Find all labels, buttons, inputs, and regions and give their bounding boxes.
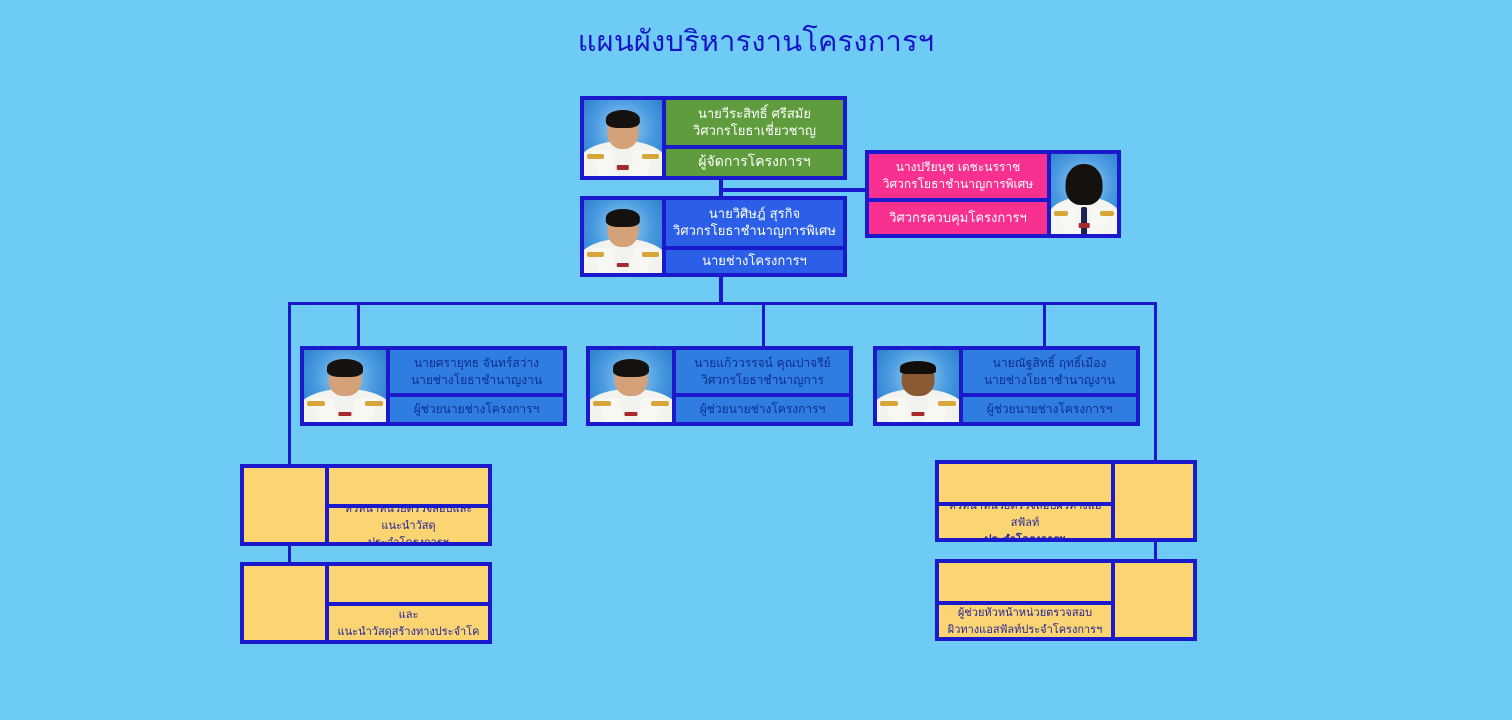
node-material-chief[interactable]: หัวหน้าหน่วยตรวจสอบและแนะนำวัสดุ ประจำโค… <box>240 464 492 546</box>
page-title: แผนผังบริหารงานโครงการฯ <box>0 22 1512 60</box>
node-asphalt-assistant[interactable]: ผู้ช่วยหัวหน้าหน่วยตรวจสอบ ผิวทางแอสฟัลท… <box>935 559 1197 641</box>
chief-technician-position-cell: นายช่างโครงการฯ <box>664 248 845 275</box>
node-project-manager[interactable]: นายวีระสิทธิ์ ศรีสมัย วิศวกรโยธาเชี่ยวชา… <box>580 96 847 180</box>
material-assistant-position-line1: ผู้ช่วยหัวหน้าหน่วยตรวจสอบและ <box>333 604 484 623</box>
node-asphalt-chief[interactable]: หัวหน้าหน่วยตรวจสอบผิวทางแอสฟัลท์ ประจำโ… <box>935 460 1197 542</box>
assistant-1-position: ผู้ช่วยนายช่างโครงการฯ <box>390 401 563 418</box>
assistant-2-position: ผู้ช่วยนายช่างโครงการฯ <box>676 401 849 418</box>
assistant-2-name: นายแก้ววรรจน์ คุณปาจรีย์ <box>680 355 845 372</box>
assistant-1-name: นายศรายุทธ จันทร์สว่าง <box>394 355 559 372</box>
assistant-3-position: ผู้ช่วยนายช่างโครงการฯ <box>963 401 1136 418</box>
assistant-3-rank: นายช่างโยธาชำนาญงาน <box>967 372 1132 389</box>
connector-bus-to-assistant-2 <box>762 302 765 346</box>
control-engineer-position-cell: วิศวกรควบคุมโครงการฯ <box>867 200 1049 236</box>
project-manager-position: ผู้จัดการโครงการฯ <box>666 154 843 171</box>
avatar-project-chief-technician <box>582 198 664 275</box>
asphalt-assistant-name-cell <box>937 561 1113 603</box>
avatar-assistant-2 <box>588 348 674 424</box>
assistant-1-rank: นายช่างโยธาชำนาญงาน <box>394 372 559 389</box>
control-engineer-name: นางปรียนุช เดชะนรราช <box>873 159 1043 176</box>
avatar-material-chief-placeholder <box>242 466 327 544</box>
asphalt-chief-position-line1: หัวหน้าหน่วยตรวจสอบผิวทางแอสฟัลท์ <box>943 504 1107 531</box>
assistant-3-name: นายณัฐสิทธิ์ ฤทธิ์เมือง <box>967 355 1132 372</box>
node-control-engineer[interactable]: นางปรียนุช เดชะนรราช วิศวกรโยธาชำนาญการพ… <box>865 150 1121 238</box>
chief-technician-name: นายวิศิษฎ์ สุรกิจ <box>670 206 839 223</box>
material-assistant-position-cell: ผู้ช่วยหัวหน้าหน่วยตรวจสอบและ แนะนำวัสดุ… <box>327 604 490 642</box>
connector-chief-to-bus-vertical <box>719 277 723 305</box>
assistant-2-name-cell: นายแก้ววรรจน์ คุณปาจรีย์ วิศวกรโยธาชำนาญ… <box>674 348 851 395</box>
assistant-1-name-cell: นายศรายุทธ จันทร์สว่าง นายช่างโยธาชำนาญง… <box>388 348 565 395</box>
chief-technician-rank: วิศวกรโยธาชำนาญการพิเศษ <box>670 223 839 240</box>
asphalt-assistant-position-cell: ผู้ช่วยหัวหน้าหน่วยตรวจสอบ ผิวทางแอสฟัลท… <box>937 603 1113 639</box>
material-assistant-name-cell <box>327 564 490 604</box>
project-manager-position-cell: ผู้จัดการโครงการฯ <box>664 147 845 178</box>
project-manager-rank: วิศวกรโยธาเชี่ยวชาญ <box>670 123 839 140</box>
material-chief-position-cell: หัวหน้าหน่วยตรวจสอบและแนะนำวัสดุ ประจำโค… <box>327 506 490 544</box>
chief-technician-position: นายช่างโครงการฯ <box>666 253 843 270</box>
avatar-control-engineer <box>1049 152 1119 236</box>
connector-bus-to-assistant-1 <box>357 302 360 346</box>
node-assistant-3[interactable]: นายณัฐสิทธิ์ ฤทธิ์เมือง นายช่างโยธาชำนาญ… <box>873 346 1140 426</box>
node-material-assistant[interactable]: ผู้ช่วยหัวหน้าหน่วยตรวจสอบและ แนะนำวัสดุ… <box>240 562 492 644</box>
avatar-assistant-3 <box>875 348 961 424</box>
asphalt-assistant-position-line2: ผิวทางแอสฟัลท์ประจำโครงการฯ <box>943 621 1107 638</box>
control-engineer-rank: วิศวกรโยธาชำนาญการพิเศษ <box>873 176 1043 193</box>
material-chief-position-line1: หัวหน้าหน่วยตรวจสอบและแนะนำวัสดุ <box>333 506 484 534</box>
control-engineer-name-cell: นางปรียนุช เดชะนรราช วิศวกรโยธาชำนาญการพ… <box>867 152 1049 200</box>
avatar-project-manager <box>582 98 664 178</box>
chief-technician-name-cell: นายวิศิษฎ์ สุรกิจ วิศวกรโยธาชำนาญการพิเศ… <box>664 198 845 248</box>
assistant-3-name-cell: นายณัฐสิทธิ์ ฤทธิ์เมือง นายช่างโยธาชำนาญ… <box>961 348 1138 395</box>
material-chief-name-cell <box>327 466 490 506</box>
control-engineer-position: วิศวกรควบคุมโครงการฯ <box>869 210 1047 227</box>
avatar-assistant-1 <box>302 348 388 424</box>
assistant-1-position-cell: ผู้ช่วยนายช่างโครงการฯ <box>388 395 565 424</box>
connector-pm-to-control-engineer-horizontal <box>719 188 867 192</box>
project-manager-name-cell: นายวีระสิทธิ์ ศรีสมัย วิศวกรโยธาเชี่ยวชา… <box>664 98 845 147</box>
node-assistant-1[interactable]: นายศรายุทธ จันทร์สว่าง นายช่างโยธาชำนาญง… <box>300 346 567 426</box>
asphalt-chief-position-line2: ประจำโครงการฯ <box>943 531 1107 541</box>
asphalt-assistant-position-line1: ผู้ช่วยหัวหน้าหน่วยตรวจสอบ <box>943 604 1107 621</box>
material-chief-position-line2: ประจำโครงการฯ <box>333 534 484 545</box>
avatar-asphalt-assistant-placeholder <box>1113 561 1195 639</box>
material-assistant-position-line2: แนะนำวัสดุสร้างทางประจำโครงการฯ <box>333 623 484 642</box>
assistant-3-position-cell: ผู้ช่วยนายช่างโครงการฯ <box>961 395 1138 424</box>
project-manager-name: นายวีระสิทธิ์ ศรีสมัย <box>670 106 839 123</box>
assistant-2-rank: วิศวกรโยธาชำนาญการ <box>680 372 845 389</box>
connector-main-bus-horizontal <box>288 302 1157 305</box>
avatar-asphalt-chief-placeholder <box>1113 462 1195 540</box>
connector-bus-to-assistant-3 <box>1043 302 1046 346</box>
asphalt-chief-position-cell: หัวหน้าหน่วยตรวจสอบผิวทางแอสฟัลท์ ประจำโ… <box>937 504 1113 540</box>
org-chart-canvas: แผนผังบริหารงานโครงการฯ นายวีระสิทธิ์ ศร… <box>0 0 1512 720</box>
connector-right-spine-vertical <box>1154 302 1157 460</box>
asphalt-chief-name-cell <box>937 462 1113 504</box>
node-assistant-2[interactable]: นายแก้ววรรจน์ คุณปาจรีย์ วิศวกรโยธาชำนาญ… <box>586 346 853 426</box>
avatar-material-assistant-placeholder <box>242 564 327 642</box>
node-project-chief-technician[interactable]: นายวิศิษฎ์ สุรกิจ วิศวกรโยธาชำนาญการพิเศ… <box>580 196 847 277</box>
assistant-2-position-cell: ผู้ช่วยนายช่างโครงการฯ <box>674 395 851 424</box>
